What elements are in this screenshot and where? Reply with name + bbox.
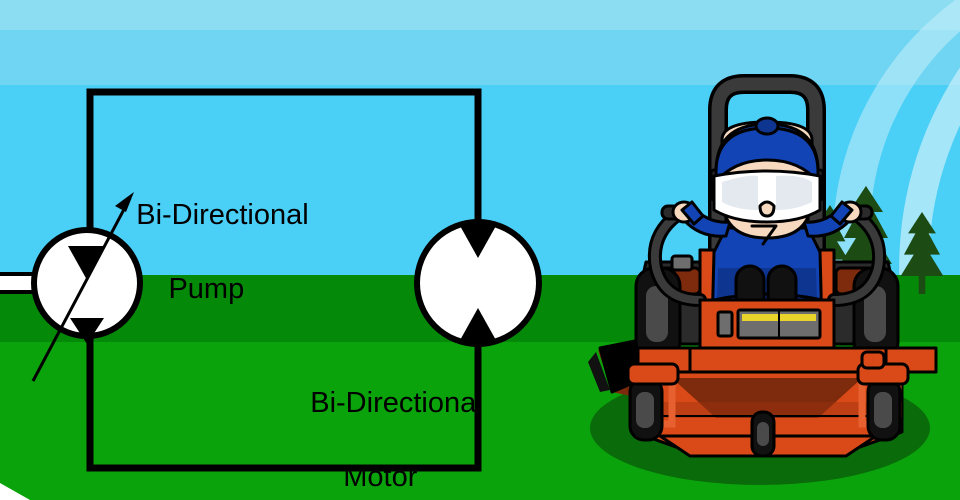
- motor-label-line1: Bi-Directional: [310, 387, 482, 419]
- bi-directional-motor-symbol: [417, 222, 539, 344]
- sky-band-top: [0, 0, 960, 30]
- deck-post-right: [862, 352, 884, 368]
- pump-label-line1: Bi-Directional: [136, 199, 308, 231]
- pump-label-line2: Pump: [104, 271, 309, 308]
- operator-nose: [760, 202, 774, 216]
- motor-label-line2: Motor: [278, 459, 483, 496]
- caster-wheel-center: [752, 412, 774, 456]
- motor-label: Bi-Directional Motor: [278, 348, 483, 500]
- schematic-illustration: Bi-Directional Pump Bi-Directional Motor: [0, 0, 960, 500]
- mower-dash-panel: [700, 300, 834, 348]
- sky-band-mid: [0, 30, 960, 85]
- deck-arm-left: [628, 364, 678, 384]
- mower-deck-shelf: [690, 348, 886, 372]
- operator-cap-button: [756, 118, 778, 134]
